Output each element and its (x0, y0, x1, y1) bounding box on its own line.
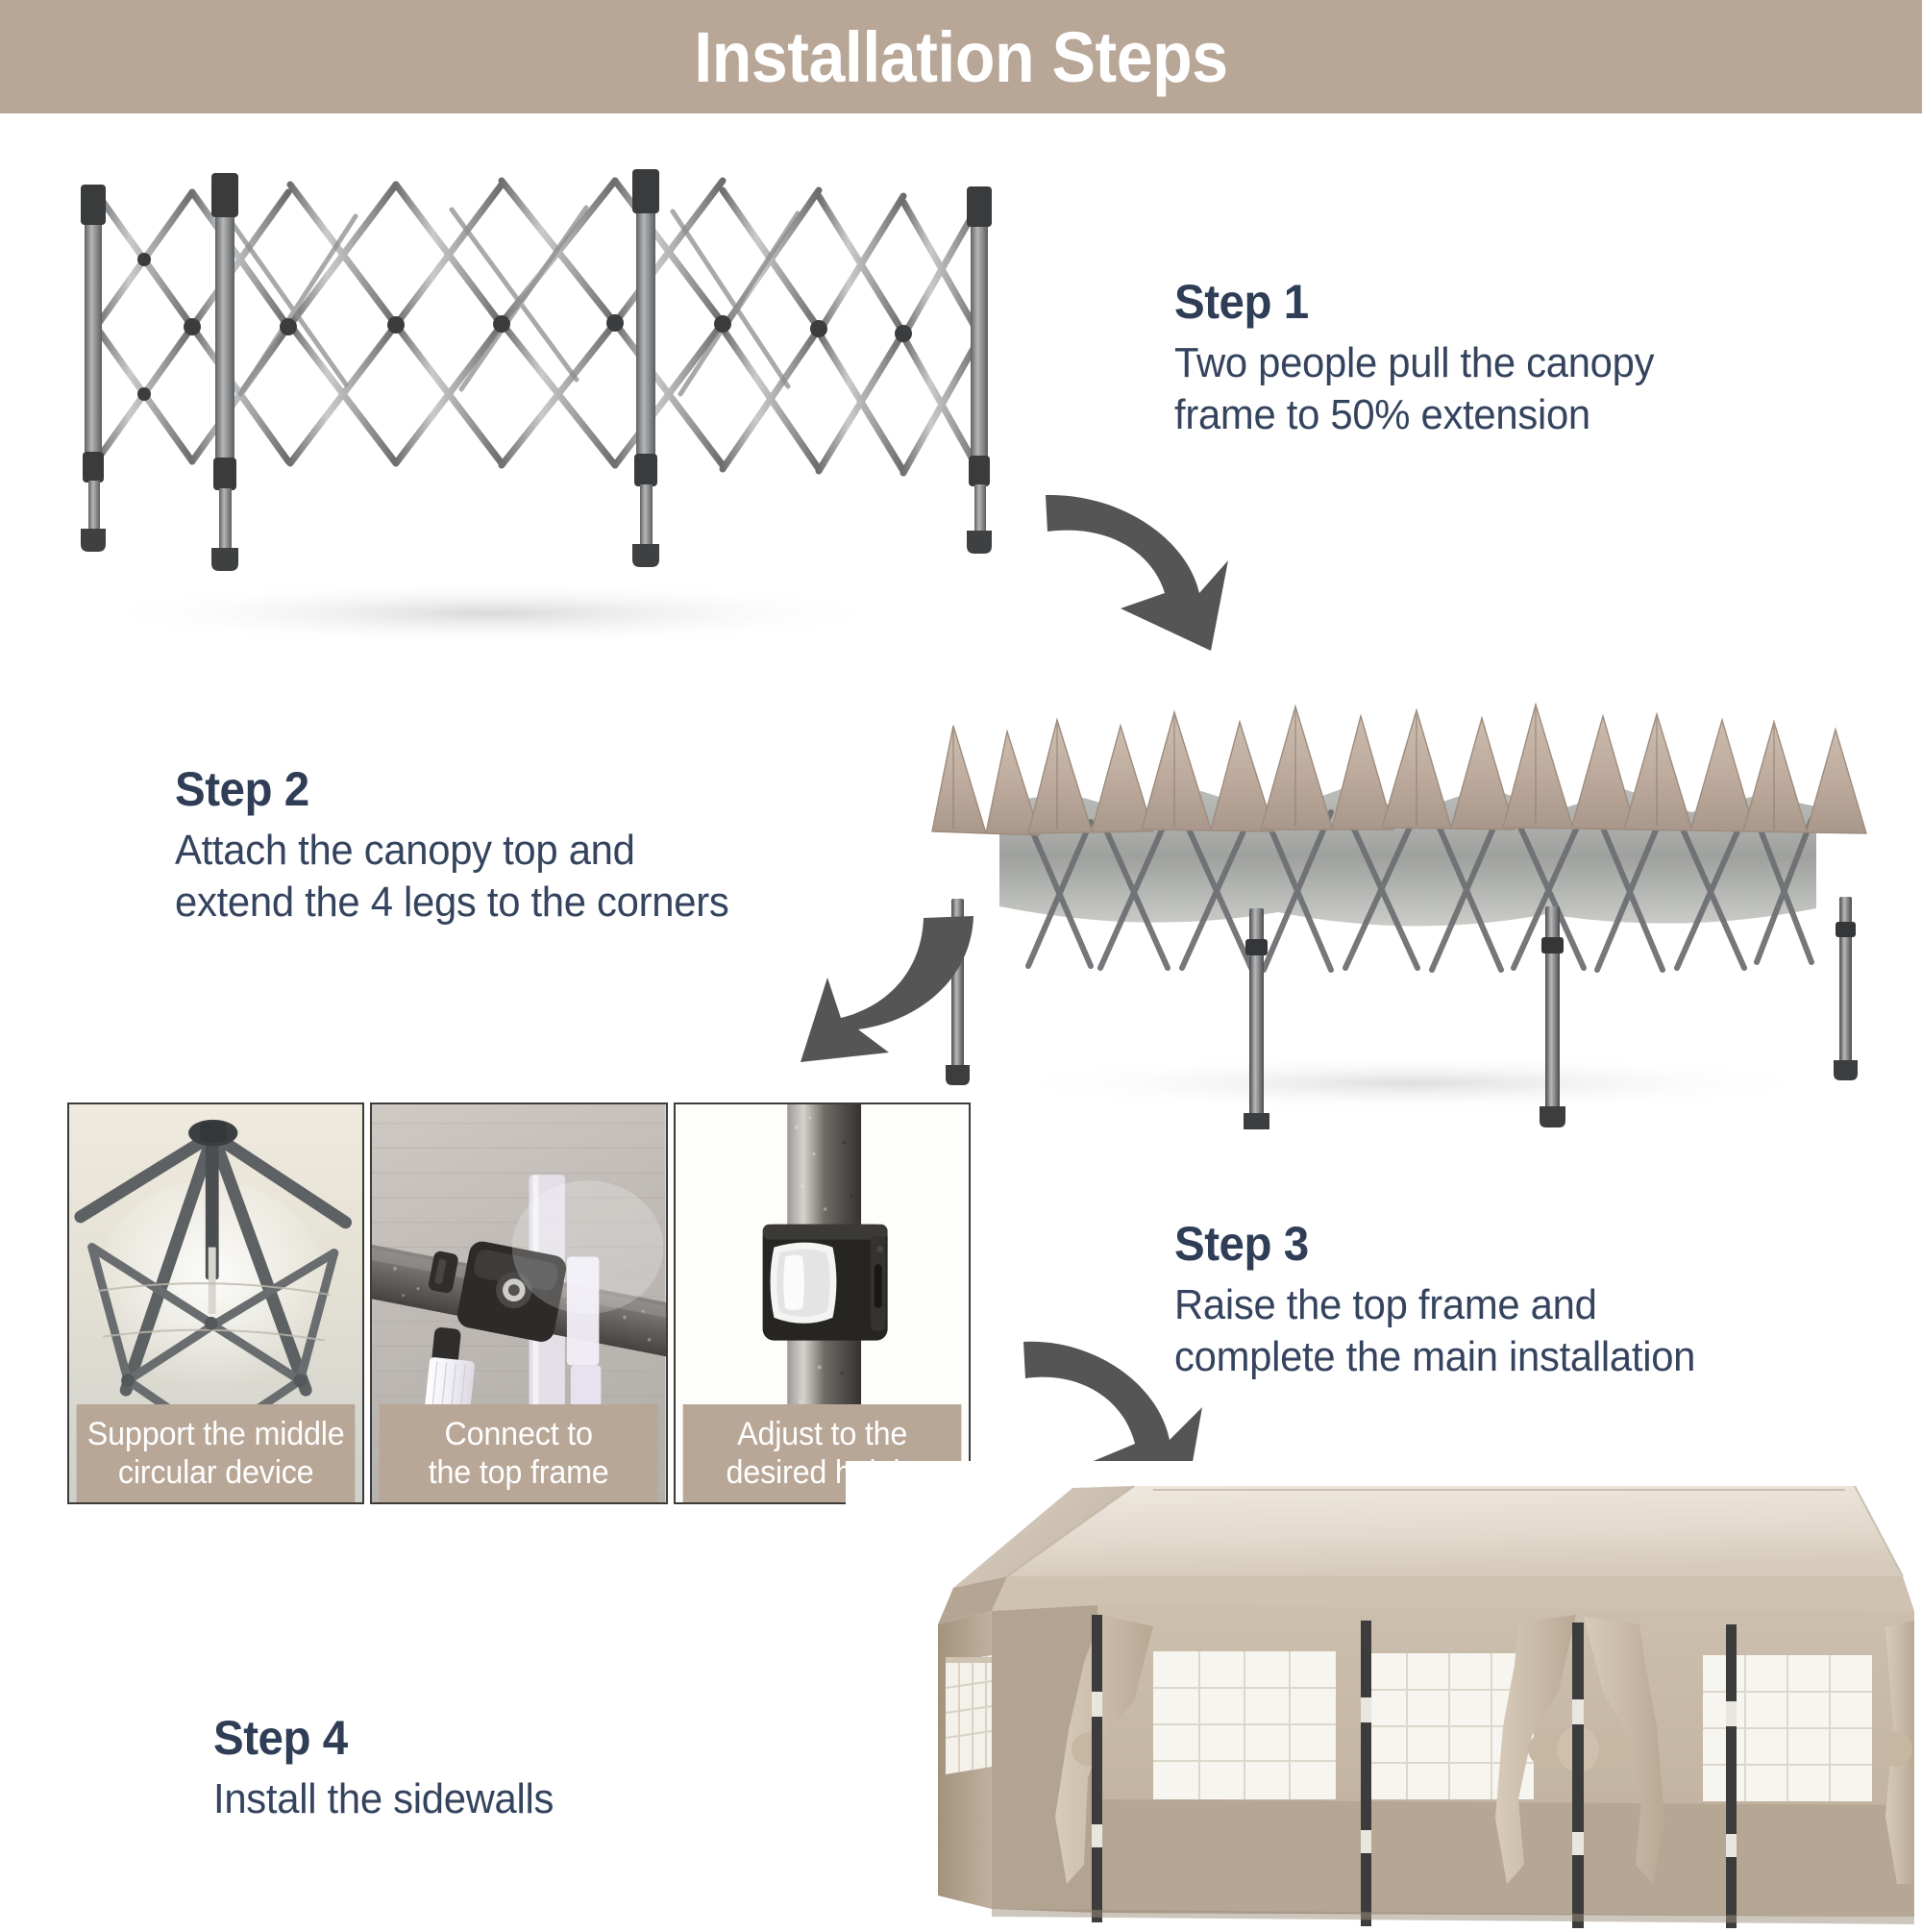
header-bar: Installation Steps (0, 0, 1922, 113)
tile-caption: Support the middle circular device (77, 1404, 356, 1502)
detail-photo-grid: Support the middle circular device (67, 1102, 971, 1504)
tile-height[interactable]: Adjust to the desired height (674, 1102, 971, 1504)
step-3-block: Step 3 Raise the top frame and complete … (1174, 1219, 1828, 1382)
folded-canopy-frame-half-extended-photo (38, 163, 1014, 663)
step-2-block: Step 2 Attach the canopy top and extend … (175, 764, 828, 928)
page-title: Installation Steps (77, 0, 1845, 113)
step-1-block: Step 1 Two people pull the canopy frame … (1174, 277, 1770, 440)
tile-middle-device[interactable]: Support the middle circular device (67, 1102, 364, 1504)
step-2-description: Attach the canopy top and extend the 4 l… (175, 825, 796, 928)
step-3-title: Step 3 (1174, 1219, 1795, 1270)
tile-top-frame[interactable]: Connect to the top frame (370, 1102, 667, 1504)
assembled-canopy-tent-with-sidewalls-photo (846, 1461, 1922, 1932)
step-4-title: Step 4 (213, 1713, 725, 1764)
step-4-description: Install the sidewalls (213, 1773, 725, 1825)
step-1-description: Two people pull the canopy frame to 50% … (1174, 337, 1740, 440)
step-2-title: Step 2 (175, 764, 796, 815)
step-4-block: Step 4 Install the sidewalls (213, 1713, 752, 1825)
curved-arrow-down-right-1 (1028, 485, 1307, 654)
installation-steps-infographic: Installation Steps (0, 0, 1922, 1922)
step-1-title: Step 1 (1174, 277, 1740, 328)
canopy-top-attached-frame-photo (894, 687, 1908, 1129)
tile-caption: Connect to the top frame (380, 1404, 658, 1502)
step-3-description: Raise the top frame and complete the mai… (1174, 1279, 1795, 1382)
